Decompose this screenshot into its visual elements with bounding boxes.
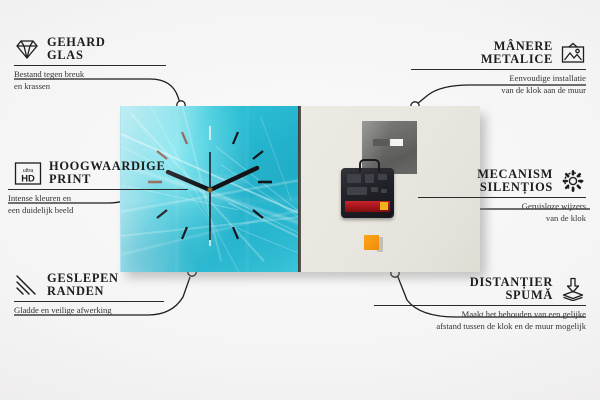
feature-title-line: RANDEN bbox=[47, 285, 119, 298]
feature-gehard-glas: GEHARD GLAS Bestand tegen breuk en krass… bbox=[14, 36, 209, 92]
feature-subtitle-line: Intense kleuren en bbox=[8, 193, 224, 204]
feature-subtitle-line: Eenvoudige installatie bbox=[371, 73, 586, 84]
feature-subtitle-line: en krassen bbox=[14, 81, 209, 92]
hour-tick-1 bbox=[233, 132, 238, 144]
hour-tick-7 bbox=[182, 227, 187, 239]
feature-title-line: PRINT bbox=[49, 173, 165, 186]
picture-frame-icon bbox=[560, 41, 586, 65]
feature-manere-metalice: MÂNERE METALICE Eenvoudige installatie v… bbox=[371, 40, 586, 96]
hanger-slot bbox=[373, 139, 403, 146]
feature-subtitle-line: Maakt het behouden van een gelijke bbox=[336, 309, 586, 320]
hour-tick-11 bbox=[182, 132, 187, 144]
feature-subtitle-line: van de klok bbox=[381, 213, 586, 224]
svg-text:HD: HD bbox=[21, 172, 35, 183]
feature-subtitle: Bestand tegen breuk en krassen bbox=[14, 69, 209, 92]
feature-geslepen-randen: GESLEPEN RANDEN Gladde en veilige afwerk… bbox=[14, 272, 214, 317]
feature-subtitle-line: een duidelijk beeld bbox=[8, 205, 224, 216]
feature-subtitle: Intense kleuren en een duidelijk beeld bbox=[8, 193, 224, 216]
diamond-icon bbox=[14, 37, 40, 61]
feature-subtitle-line: afstand tussen de klok en de muur mogeli… bbox=[336, 321, 586, 332]
feature-subtitle-line: Gladde en veilige afwerking bbox=[14, 305, 214, 316]
beveled-edge-icon bbox=[14, 273, 40, 297]
feature-subtitle: Maakt het behouden van een gelijke afsta… bbox=[336, 309, 586, 332]
hour-tick-4 bbox=[253, 210, 263, 218]
spacer-arrow-icon bbox=[560, 277, 586, 301]
feature-rule bbox=[374, 305, 586, 306]
feature-title-line: SILENȚIOS bbox=[480, 181, 553, 194]
feature-subtitle-line: Bestand tegen breuk bbox=[14, 69, 209, 80]
feature-subtitle: Geruisloze wijzers van de klok bbox=[381, 201, 586, 224]
ultra-hd-icon: ultra HD bbox=[14, 161, 42, 186]
feature-subtitle-line: van de klok aan de muur bbox=[371, 85, 586, 96]
feature-rule bbox=[8, 189, 188, 190]
feature-hoogwaardige-print: ultra HD HOOGWAARDIGE PRINT Intense kleu… bbox=[14, 160, 224, 216]
gear-icon bbox=[560, 169, 586, 193]
hour-tick-2 bbox=[253, 151, 263, 159]
feature-mecanism-silentios: MECANISM SILENȚIOS Geruisloze wijzers va… bbox=[381, 168, 586, 224]
feature-subtitle-line: Geruisloze wijzers bbox=[381, 201, 586, 212]
hour-tick-5 bbox=[233, 227, 238, 239]
hour-tick-10 bbox=[157, 151, 167, 159]
infographic-canvas: GEHARD GLAS Bestand tegen breuk en krass… bbox=[0, 0, 600, 400]
feature-title-line: SPUMĂ bbox=[505, 289, 553, 302]
feature-rule bbox=[14, 301, 164, 302]
feature-subtitle: Gladde en veilige afwerking bbox=[14, 305, 214, 316]
hanger-loop bbox=[359, 159, 380, 172]
feature-rule bbox=[14, 65, 166, 66]
feature-rule bbox=[411, 69, 586, 70]
feature-distantier-spuma: DISTANȚIER SPUMĂ Maakt het behouden van … bbox=[336, 276, 586, 332]
feature-title-line: METALICE bbox=[481, 53, 553, 66]
foam-spacer bbox=[364, 235, 379, 250]
feature-title-line: GLAS bbox=[47, 49, 106, 62]
feature-rule bbox=[418, 197, 586, 198]
feature-subtitle: Eenvoudige installatie van de klok aan d… bbox=[371, 73, 586, 96]
